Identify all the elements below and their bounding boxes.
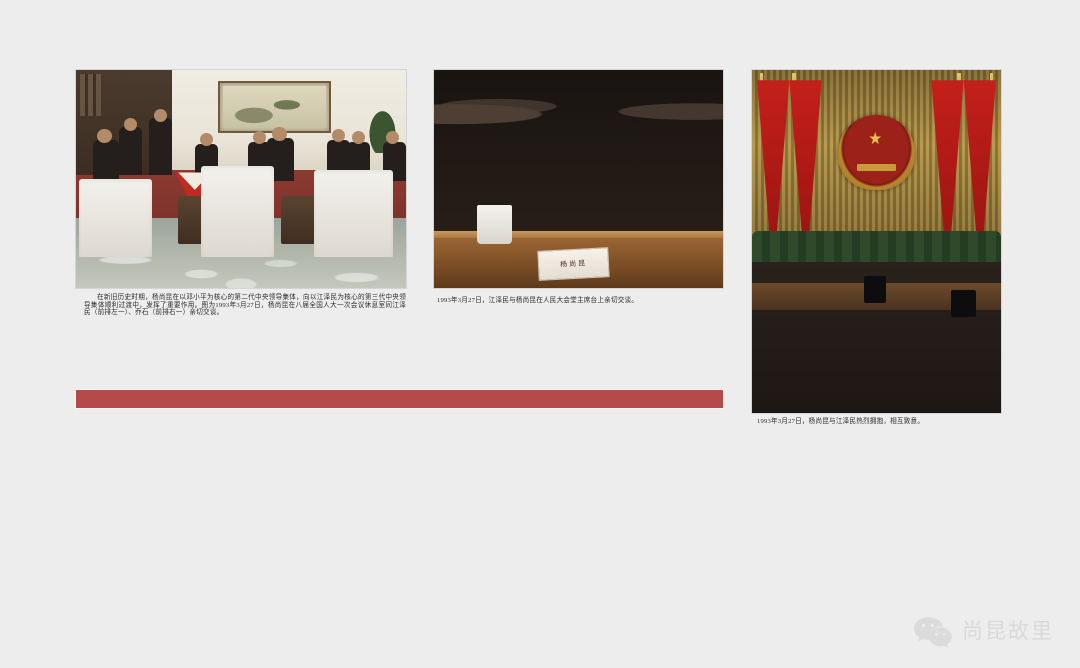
watermark: 尚昆故里 (913, 615, 1054, 648)
armchair-right (314, 170, 393, 257)
landscape-painting (218, 81, 331, 133)
photo-1-scene (76, 70, 406, 288)
armchair-left (79, 179, 152, 257)
emblem-gate-bar (857, 164, 897, 171)
tea-cup (477, 205, 512, 244)
background-figure-head (332, 129, 345, 142)
background-audience (434, 83, 723, 135)
photo-embrace-great-hall (752, 70, 1001, 413)
background-figure-head (272, 127, 287, 141)
national-emblem-icon (838, 115, 915, 190)
background-figure-head (253, 131, 266, 144)
photo-1-caption: 在新旧历史时期，杨尚昆在以邓小平为核心的第二代中央领导集体，向以江泽民为核心的第… (84, 294, 406, 317)
photo-2-caption: 1993年3月27日，江泽民与杨尚昆在人民大会堂主席台上亲切交谈。 (437, 297, 723, 305)
background-figure (119, 127, 142, 175)
watermark-text: 尚昆故里 (962, 621, 1054, 642)
background-figure-head (352, 131, 365, 144)
background-figure-head (154, 109, 167, 122)
photo-reception-hall (76, 70, 406, 288)
background-figure (149, 118, 172, 175)
background-figure (93, 140, 119, 179)
photo-2-scene: 杨尚昆 (434, 70, 723, 288)
nameplate: 杨尚昆 (537, 247, 610, 281)
photo-3-scene (752, 70, 1001, 413)
page-canvas: 在新旧历史时期，杨尚昆在以邓小平为核心的第二代中央领导集体，向以江泽民为核心的第… (0, 0, 1080, 668)
photo-podium-conversation: 杨尚昆 (434, 70, 723, 288)
door-panels (80, 74, 101, 116)
armchair-center (201, 166, 274, 258)
wechat-logo-icon (913, 615, 953, 648)
photo-3-caption: 1993年3月27日，杨尚昆与江泽民热烈拥抱，相互致意。 (757, 418, 1001, 426)
press-camera (951, 290, 976, 317)
nameplate-text: 杨尚昆 (560, 258, 587, 269)
background-figure-head (124, 118, 137, 131)
red-divider-bar (76, 390, 723, 408)
press-camera (864, 276, 886, 303)
